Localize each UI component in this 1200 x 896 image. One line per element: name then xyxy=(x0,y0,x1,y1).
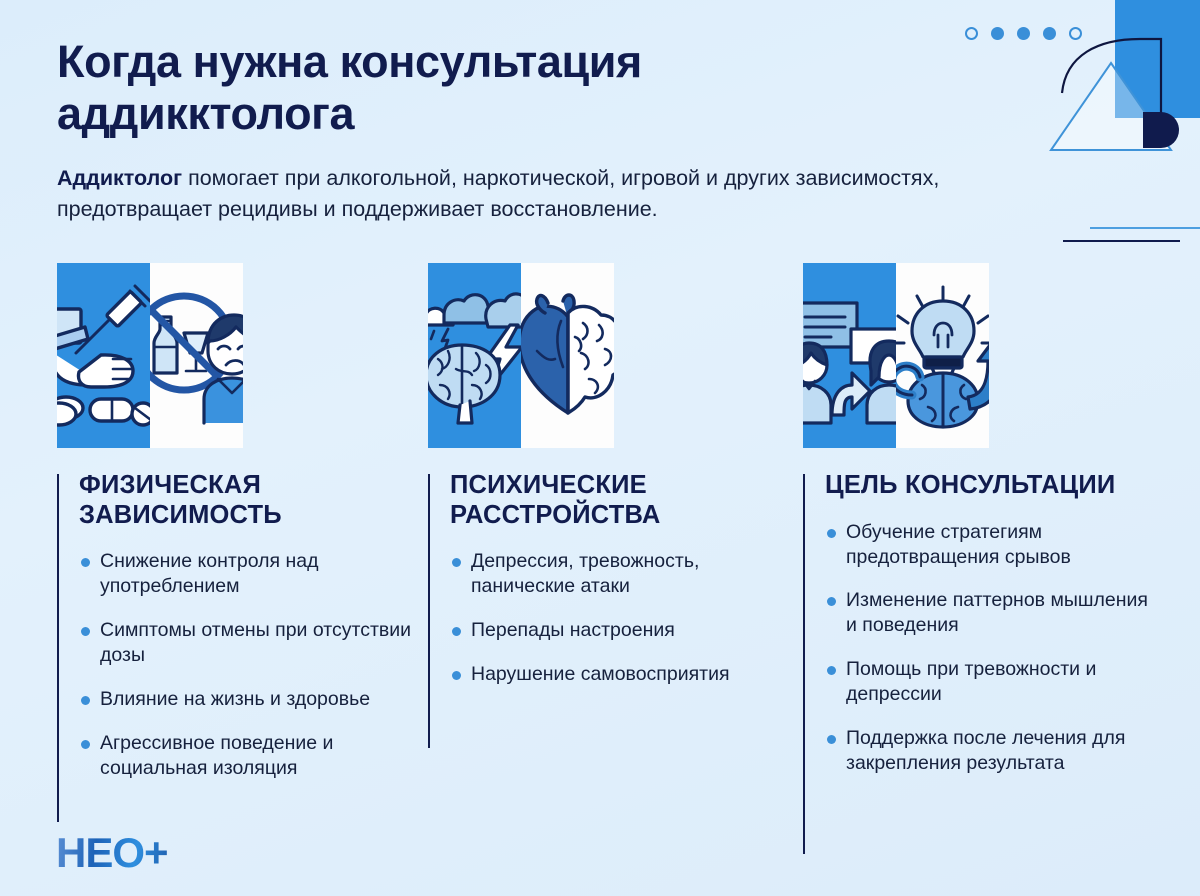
column-consultation-goal: ЦЕЛЬ КОНСУЛЬТАЦИИ Обучение стратегиям пр… xyxy=(803,263,1161,776)
column-2-rule xyxy=(428,474,430,748)
column-3-icon-tiles xyxy=(803,263,1161,448)
tile-arm-syringe-pills xyxy=(57,263,150,448)
dot-filled-icon xyxy=(1043,27,1056,40)
brain-lightbulb-arrow-icon xyxy=(896,281,989,431)
column-1-body: ФИЗИЧЕСКАЯ ЗАВИСИМОСТЬ Снижение контроля… xyxy=(57,471,432,781)
column-1-heading: ФИЗИЧЕСКАЯ ЗАВИСИМОСТЬ xyxy=(79,471,432,530)
list-item: Перепады настроения xyxy=(450,618,803,643)
list-item: Изменение паттернов мышления и поведения xyxy=(825,588,1161,638)
column-2-icon-tiles xyxy=(428,263,803,448)
tile-storm-cloud-brain xyxy=(428,263,521,448)
column-2-heading: ПСИХИЧЕСКИЕ РАССТРОЙСТВА xyxy=(450,471,803,530)
people-dialogue-icon xyxy=(803,281,896,431)
dot-filled-icon xyxy=(1017,27,1030,40)
list-item: Нарушение самовосприятия xyxy=(450,662,803,687)
light-rule-decoration xyxy=(1090,227,1200,229)
column-1-bullet-list: Снижение контроля над употреблением Симп… xyxy=(79,549,432,781)
page-title: Когда нужна консультация аддикктолога xyxy=(57,36,857,140)
list-item: Снижение контроля над употреблением xyxy=(79,549,432,599)
list-item: Обучение стратегиям предотвращения срыво… xyxy=(825,520,1161,570)
arm-syringe-pills-icon xyxy=(57,281,150,431)
dot-hollow-icon xyxy=(965,27,978,40)
tile-brain-lightbulb-arrow xyxy=(896,263,989,448)
list-item: Депрессия, тревожность, панические атаки xyxy=(450,549,803,599)
column-1-rule xyxy=(57,474,59,822)
no-alcohol-sad-man-icon xyxy=(150,281,243,431)
brand-logo: НЕО+ xyxy=(56,832,168,874)
column-physical-dependence: ФИЗИЧЕСКАЯ ЗАВИСИМОСТЬ Снижение контроля… xyxy=(57,263,432,781)
tile-heart-brain xyxy=(521,263,614,448)
dot-filled-icon xyxy=(991,27,1004,40)
list-item: Симптомы отмены при отсутствии дозы xyxy=(79,618,432,668)
column-2-bullet-list: Депрессия, тревожность, панические атаки… xyxy=(450,549,803,687)
list-item: Поддержка после лечения для закрепления … xyxy=(825,726,1161,776)
columns-container: ФИЗИЧЕСКАЯ ЗАВИСИМОСТЬ Снижение контроля… xyxy=(0,263,1200,883)
subtitle-rest: помогает при алкогольной, наркотической,… xyxy=(57,166,939,221)
page-subtitle: Аддиктолог помогает при алкогольной, нар… xyxy=(57,163,957,224)
dark-rule-decoration xyxy=(1063,240,1180,242)
infographic-poster: Когда нужна консультация аддикктолога Ад… xyxy=(0,0,1200,896)
list-item: Влияние на жизнь и здоровье xyxy=(79,687,432,712)
column-mental-disorders: ПСИХИЧЕСКИЕ РАССТРОЙСТВА Депрессия, трев… xyxy=(428,263,803,687)
heart-brain-icon xyxy=(521,281,614,431)
list-item: Помощь при тревожности и депрессии xyxy=(825,657,1161,707)
subtitle-lead: Аддиктолог xyxy=(57,166,182,190)
header: Когда нужна консультация аддикктолога Ад… xyxy=(57,36,957,224)
column-3-heading: ЦЕЛЬ КОНСУЛЬТАЦИИ xyxy=(825,471,1161,501)
column-3-body: ЦЕЛЬ КОНСУЛЬТАЦИИ Обучение стратегиям пр… xyxy=(803,471,1161,776)
column-1-icon-tiles xyxy=(57,263,432,448)
navy-half-circle-decoration xyxy=(1143,112,1179,148)
tile-no-alcohol-sad-man xyxy=(150,263,243,448)
tile-people-dialogue xyxy=(803,263,896,448)
column-3-rule xyxy=(803,474,805,854)
column-2-body: ПСИХИЧЕСКИЕ РАССТРОЙСТВА Депрессия, трев… xyxy=(428,471,803,687)
storm-cloud-brain-icon xyxy=(428,281,521,431)
list-item: Агрессивное поведение и социальная изоля… xyxy=(79,731,432,781)
column-3-bullet-list: Обучение стратегиям предотвращения срыво… xyxy=(825,520,1161,777)
